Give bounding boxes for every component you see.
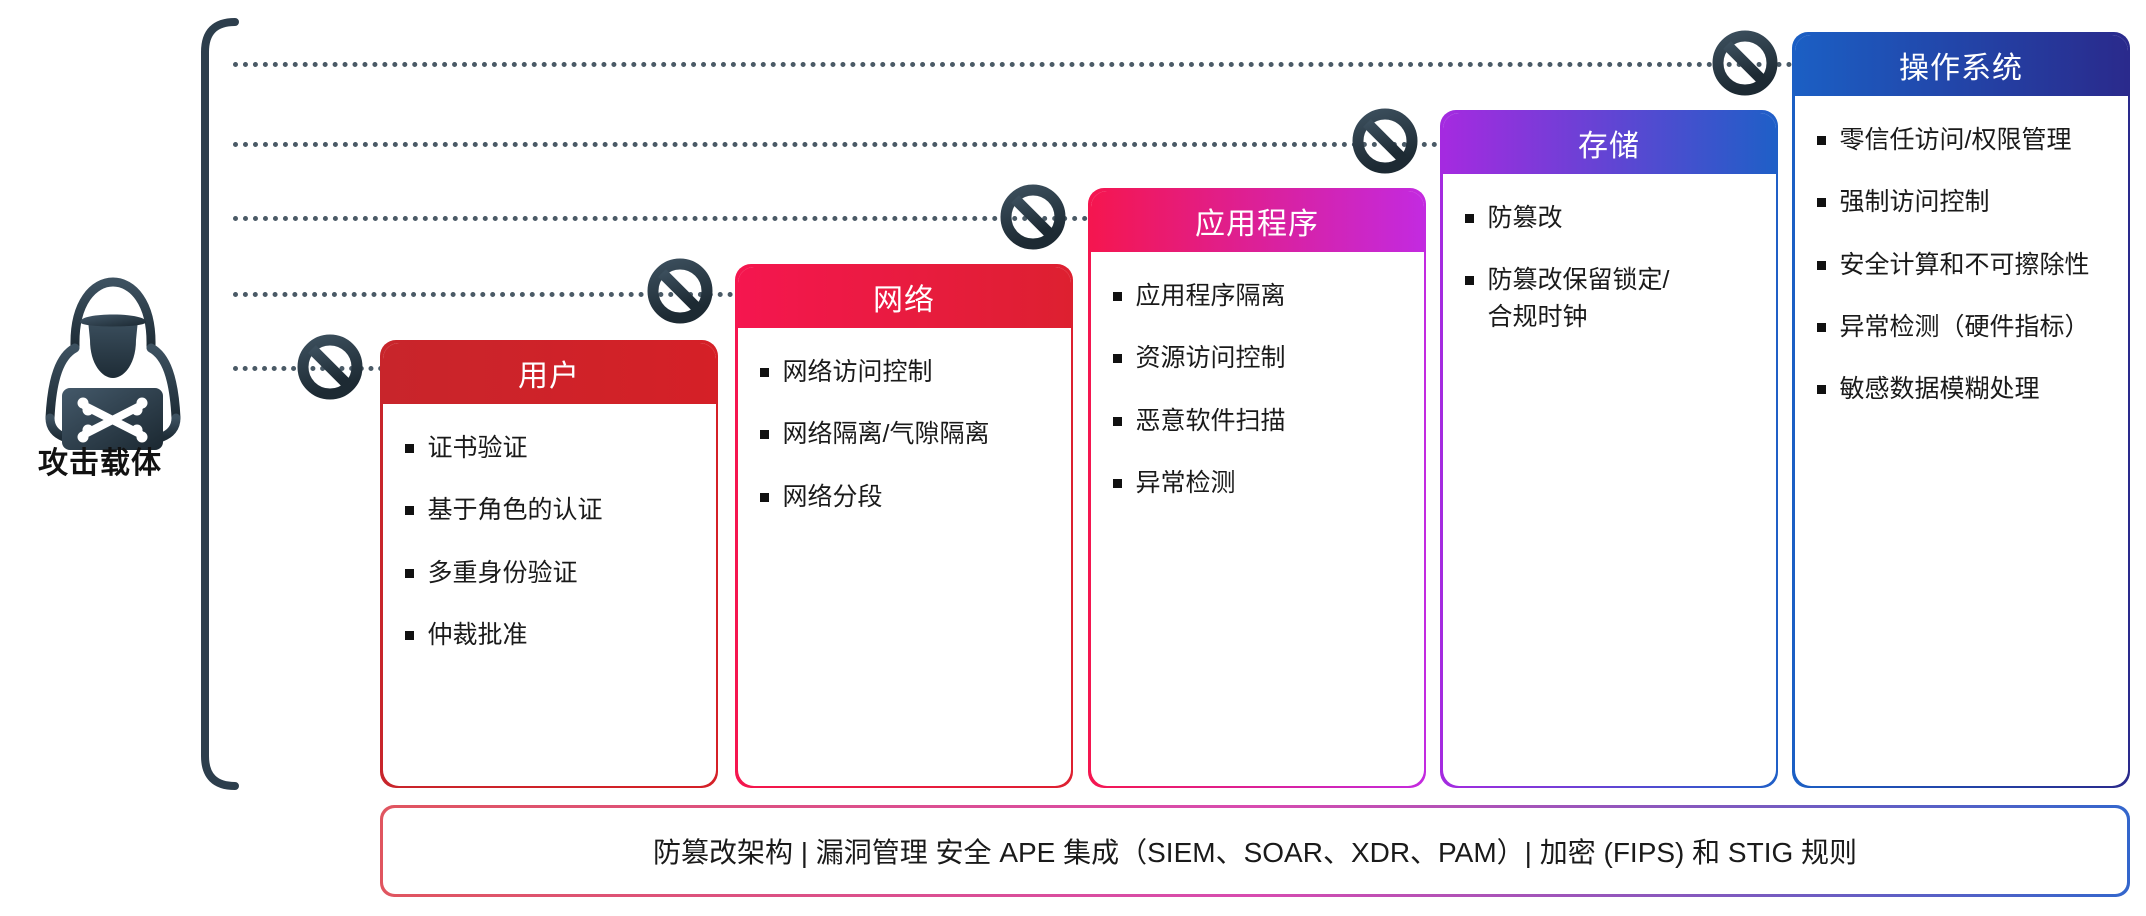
list-item: 网络分段 xyxy=(760,479,1053,515)
bullet-icon xyxy=(1817,261,1826,270)
list-item: 多重身份验证 xyxy=(405,555,698,591)
bullet-icon xyxy=(405,444,414,453)
layer-card-network[interactable]: 网络 网络访问控制 网络隔离/气隙隔离 网络分段 xyxy=(735,264,1073,788)
bullet-icon xyxy=(1465,214,1474,223)
layer-card-title: 应用程序 xyxy=(1091,191,1424,253)
layer-card-items: 网络访问控制 网络隔离/气隙隔离 网络分段 xyxy=(738,328,1071,551)
bullet-icon xyxy=(1113,292,1122,301)
no-entry-icon-os xyxy=(1712,30,1778,96)
layer-card-items: 防篡改 防篡改保留锁定/ 合规时钟 xyxy=(1443,174,1776,371)
list-item: 基于角色的认证 xyxy=(405,492,698,528)
bullet-icon xyxy=(1113,479,1122,488)
bullet-icon xyxy=(760,368,769,377)
layer-card-storage[interactable]: 存储 防篡改 防篡改保留锁定/ 合规时钟 xyxy=(1440,110,1778,788)
bullet-icon xyxy=(760,430,769,439)
bullet-icon xyxy=(1113,417,1122,426)
layer-card-os[interactable]: 操作系统 零信任访问/权限管理 强制访问控制 安全计算和不可擦除性 异常检测（硬… xyxy=(1792,32,2130,788)
list-item: 网络访问控制 xyxy=(760,354,1053,390)
bullet-icon xyxy=(1817,385,1826,394)
layer-card-items: 应用程序隔离 资源访问控制 恶意软件扫描 异常检测 xyxy=(1091,252,1424,537)
connector-line-os xyxy=(233,62,1793,67)
list-item: 恶意软件扫描 xyxy=(1113,403,1406,439)
list-item: 仲裁批准 xyxy=(405,617,698,653)
list-item: 网络隔离/气隙隔离 xyxy=(760,416,1053,452)
list-item: 异常检测 xyxy=(1113,465,1406,501)
list-item: 证书验证 xyxy=(405,430,698,466)
bullet-icon xyxy=(405,506,414,515)
foundation-banner-text: 防篡改架构 | 漏洞管理 安全 APE 集成（SIEM、SOAR、XDR、PAM… xyxy=(653,831,1857,871)
list-item: 安全计算和不可擦除性 xyxy=(1817,247,2110,283)
layer-card-application[interactable]: 应用程序 应用程序隔离 资源访问控制 恶意软件扫描 异常检测 xyxy=(1088,188,1426,788)
bullet-icon xyxy=(760,493,769,502)
connector-line-storage xyxy=(233,142,1438,147)
bullet-icon xyxy=(1113,354,1122,363)
list-item: 敏感数据模糊处理 xyxy=(1817,371,2110,407)
attacker-label: 攻击载体 xyxy=(0,438,200,482)
layer-card-items: 证书验证 基于角色的认证 多重身份验证 仲裁批准 xyxy=(383,404,716,689)
bullet-icon xyxy=(1465,276,1474,285)
layer-card-title: 操作系统 xyxy=(1795,35,2128,97)
bullet-icon xyxy=(405,631,414,640)
no-entry-icon-user xyxy=(297,334,363,400)
layer-card-title: 网络 xyxy=(738,267,1071,329)
list-item: 应用程序隔离 xyxy=(1113,278,1406,314)
list-item: 强制访问控制 xyxy=(1817,184,2110,220)
no-entry-icon-network xyxy=(647,258,713,324)
layer-card-title: 存储 xyxy=(1443,113,1776,175)
bullet-icon xyxy=(1817,136,1826,145)
list-item: 零信任访问/权限管理 xyxy=(1817,122,2110,158)
attack-surface-bracket xyxy=(195,18,243,790)
layer-card-title: 用户 xyxy=(383,343,716,405)
no-entry-icon-application xyxy=(1000,184,1066,250)
layer-card-items: 零信任访问/权限管理 强制访问控制 安全计算和不可擦除性 异常检测（硬件指标） … xyxy=(1795,96,2128,443)
bullet-icon xyxy=(1817,323,1826,332)
list-item: 异常检测（硬件指标） xyxy=(1817,309,2110,345)
diagram-canvas: 攻击载体 用户 证书验证 基于角色的认证 多重身份验证 仲裁批准 网络 xyxy=(0,0,2146,916)
bullet-icon xyxy=(405,569,414,578)
list-item: 防篡改保留锁定/ 合规时钟 xyxy=(1465,262,1758,335)
no-entry-icon-storage xyxy=(1352,108,1418,174)
list-item: 防篡改 xyxy=(1465,200,1758,236)
layer-card-user[interactable]: 用户 证书验证 基于角色的认证 多重身份验证 仲裁批准 xyxy=(380,340,718,788)
connector-line-application xyxy=(233,216,1088,221)
bullet-icon xyxy=(1817,198,1826,207)
foundation-banner[interactable]: 防篡改架构 | 漏洞管理 安全 APE 集成（SIEM、SOAR、XDR、PAM… xyxy=(380,805,2130,897)
list-item: 资源访问控制 xyxy=(1113,340,1406,376)
